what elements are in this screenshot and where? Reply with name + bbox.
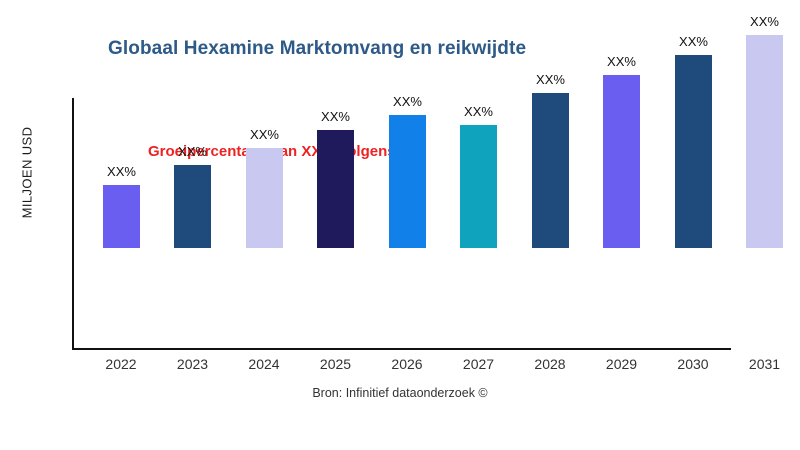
- x-tick-2029: 2029: [592, 356, 652, 372]
- bar-rect-2025[interactable]: [317, 130, 354, 248]
- chart-container: Globaal Hexamine Marktomvang en reikwijd…: [0, 0, 800, 450]
- plot-area: XX%XX%XX%XX%XX%XX%XX%XX%XX%XX%: [0, 0, 800, 350]
- bar-value-label-2029: XX%: [607, 54, 636, 69]
- bar-2024[interactable]: XX%: [246, 148, 283, 248]
- bar-2027[interactable]: XX%: [460, 125, 497, 248]
- x-tick-2022: 2022: [91, 356, 151, 372]
- bar-rect-2022[interactable]: [103, 185, 140, 248]
- x-tick-2025: 2025: [306, 356, 366, 372]
- bar-value-label-2024: XX%: [250, 127, 279, 142]
- bar-rect-2028[interactable]: [532, 93, 569, 248]
- bar-rect-2030[interactable]: [675, 55, 712, 248]
- x-tick-2031: 2031: [735, 356, 795, 372]
- bar-2028[interactable]: XX%: [532, 93, 569, 248]
- bar-value-label-2030: XX%: [679, 34, 708, 49]
- bar-2026[interactable]: XX%: [389, 115, 426, 248]
- bar-2022[interactable]: XX%: [103, 185, 140, 248]
- x-tick-2023: 2023: [163, 356, 223, 372]
- source-note: Bron: Infinitief dataonderzoek ©: [0, 386, 800, 400]
- bar-2023[interactable]: XX%: [174, 165, 211, 248]
- bar-value-label-2027: XX%: [464, 104, 493, 119]
- bar-rect-2027[interactable]: [460, 125, 497, 248]
- bar-value-label-2031: XX%: [750, 14, 779, 29]
- x-tick-2026: 2026: [377, 356, 437, 372]
- bar-rect-2023[interactable]: [174, 165, 211, 248]
- bar-value-label-2025: XX%: [321, 109, 350, 124]
- x-tick-2024: 2024: [234, 356, 294, 372]
- bar-rect-2029[interactable]: [603, 75, 640, 248]
- bar-value-label-2026: XX%: [393, 94, 422, 109]
- bar-rect-2026[interactable]: [389, 115, 426, 248]
- bar-rect-2031[interactable]: [746, 35, 783, 248]
- bar-2029[interactable]: XX%: [603, 75, 640, 248]
- bar-value-label-2023: XX%: [178, 144, 207, 159]
- x-tick-2030: 2030: [663, 356, 723, 372]
- bar-2031[interactable]: XX%: [746, 35, 783, 248]
- bar-2030[interactable]: XX%: [675, 55, 712, 248]
- x-tick-2028: 2028: [520, 356, 580, 372]
- bar-rect-2024[interactable]: [246, 148, 283, 248]
- bar-2025[interactable]: XX%: [317, 130, 354, 248]
- x-tick-2027: 2027: [449, 356, 509, 372]
- bar-value-label-2028: XX%: [536, 72, 565, 87]
- bar-value-label-2022: XX%: [107, 164, 136, 179]
